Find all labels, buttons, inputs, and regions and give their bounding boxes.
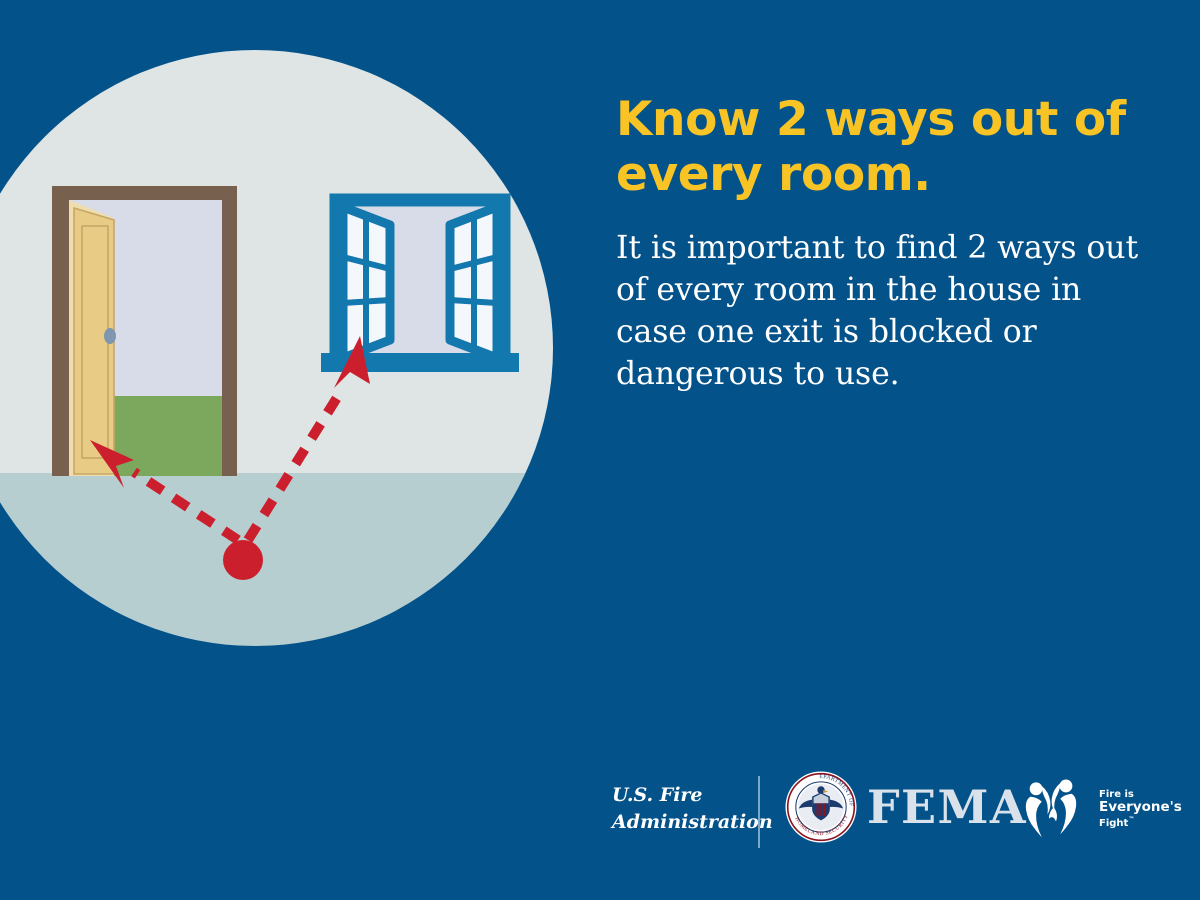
body-text: It is important to find 2 ways out of ev… bbox=[616, 228, 1161, 396]
window-muntin-right-h2 bbox=[450, 300, 497, 303]
illustration-room-escape-routes bbox=[0, 48, 572, 648]
campaign-tagline: Fire is Everyone's Fight™ bbox=[1099, 787, 1182, 830]
fema-lockup: U.S. DEPARTMENT OF HOMELAND SECURITY FEM… bbox=[784, 770, 1027, 844]
usfa-line-2: Administration bbox=[612, 809, 752, 836]
floor-band bbox=[0, 473, 572, 648]
campaign-line-3: Fight bbox=[1099, 818, 1128, 829]
window-group bbox=[321, 200, 519, 372]
text-column: Know 2 ways out of every room. It is imp… bbox=[616, 92, 1161, 396]
fema-wordmark: FEMA bbox=[867, 784, 1027, 830]
usfa-line-1: U.S. Fire bbox=[612, 784, 703, 806]
campaign-line-1: Fire is bbox=[1099, 789, 1134, 800]
campaign-trademark: ™ bbox=[1128, 816, 1134, 823]
campaign-line-2: Everyone's bbox=[1099, 800, 1182, 816]
usfa-wordmark: U.S. Fire Administration bbox=[612, 782, 752, 836]
route-origin-dot bbox=[223, 540, 263, 580]
door-group bbox=[52, 186, 237, 476]
footer-divider bbox=[758, 776, 760, 848]
poster-canvas: Know 2 ways out of every room. It is imp… bbox=[0, 0, 1200, 900]
window-muntin-left-h2 bbox=[343, 300, 390, 303]
two-figures-flame-icon bbox=[1020, 776, 1092, 840]
page-title: Know 2 ways out of every room. bbox=[616, 92, 1161, 202]
footer-logo-bar: U.S. Fire Administration bbox=[612, 770, 1172, 865]
door-knob bbox=[104, 328, 116, 344]
dhs-seal-icon: U.S. DEPARTMENT OF HOMELAND SECURITY bbox=[784, 770, 858, 844]
fire-is-everyones-fight-lockup: Fire is Everyone's Fight™ bbox=[1020, 776, 1182, 840]
